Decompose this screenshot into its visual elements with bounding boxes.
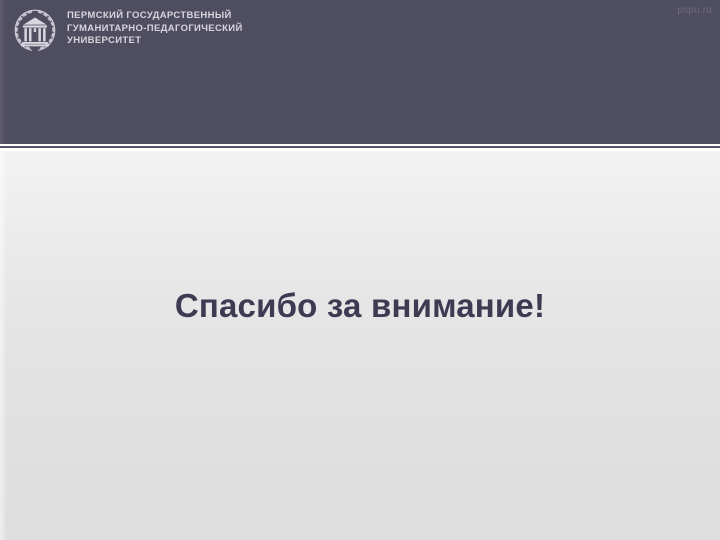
wordmark-line-2: ГУМАНИТАРНО-ПЕДАГОГИЧЕСКИЙ: [67, 23, 243, 35]
wordmark-line-3: УНИВЕРСИТЕТ: [67, 35, 243, 47]
header-divider-trailing-gap: [0, 148, 720, 151]
university-wordmark: ПЕРМСКИЙ ГОСУДАРСТВЕННЫЙ ГУМАНИТАРНО-ПЕД…: [67, 7, 243, 47]
site-watermark: pspu.ru: [677, 5, 712, 16]
body-left-edge-highlight: [0, 148, 7, 540]
university-building-wreath-emblem-icon: [12, 7, 58, 54]
presentation-slide: ПЕРМСКИЙ ГОСУДАРСТВЕННЫЙ ГУМАНИТАРНО-ПЕД…: [0, 0, 720, 540]
header-left-edge-highlight: [0, 0, 6, 144]
slide-header-band: ПЕРМСКИЙ ГОСУДАРСТВЕННЫЙ ГУМАНИТАРНО-ПЕД…: [0, 0, 720, 144]
university-logo-lockup: ПЕРМСКИЙ ГОСУДАРСТВЕННЫЙ ГУМАНИТАРНО-ПЕД…: [12, 7, 243, 54]
wordmark-line-1: ПЕРМСКИЙ ГОСУДАРСТВЕННЫЙ: [67, 10, 243, 22]
slide-headline: Спасибо за внимание!: [0, 287, 720, 325]
